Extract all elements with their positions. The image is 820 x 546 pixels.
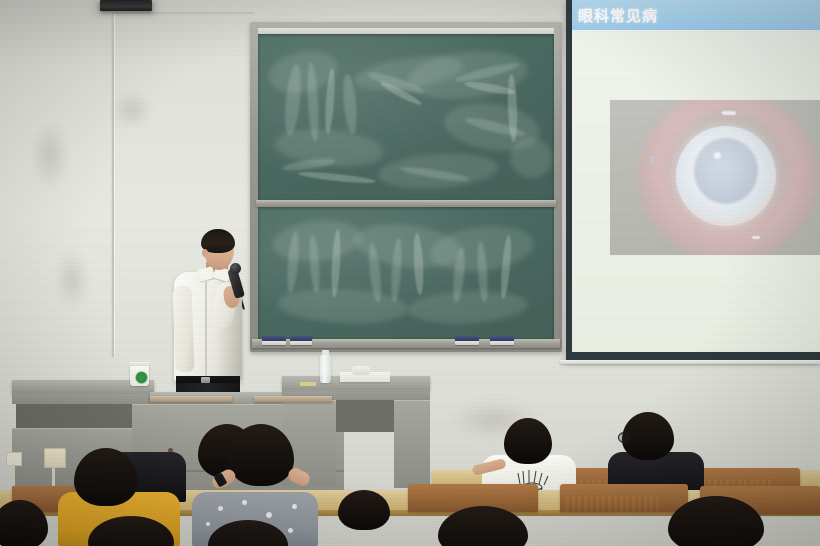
right-desk-recess [336, 400, 394, 432]
eye-photo-speck [650, 155, 654, 163]
student-white-tee-head [504, 418, 552, 464]
blackboard-eraser[interactable] [490, 336, 514, 345]
slide-title: 眼科常见病 [578, 5, 658, 26]
ceiling-speaker-unit [100, 0, 152, 11]
blackboard-eraser[interactable] [290, 336, 312, 345]
blackboard-upper-panel [258, 34, 554, 202]
projection-screen: 眼科常见病 [572, 0, 820, 352]
white-cup[interactable] [352, 366, 370, 375]
wall-stain [110, 90, 154, 130]
podium-trim [254, 396, 332, 402]
student-yellow-tee-head [74, 448, 138, 506]
speaker-arm-left [173, 286, 195, 373]
blackboard-divider-rail [256, 200, 556, 207]
wall-stain [30, 120, 70, 190]
wall-outlet-conduit [12, 464, 15, 486]
student-grey-polka-head [228, 424, 294, 486]
lecture-hall-photo: 眼科常见病 [0, 0, 820, 546]
left-desk-recess [16, 404, 138, 428]
eye-photo-speck [752, 236, 760, 239]
eye-specular-glint [714, 152, 721, 159]
student-right-ponytail-head [338, 490, 390, 530]
shirt-dot [218, 506, 223, 511]
slide-eye-photograph [610, 100, 820, 255]
shirt-dot [288, 528, 293, 533]
wall-stain [55, 250, 89, 310]
shirt-dot [206, 522, 210, 526]
microphone-head [230, 263, 241, 274]
podium-trim [150, 396, 232, 402]
bench-slats [566, 496, 682, 512]
blackboard-eraser[interactable] [455, 336, 479, 345]
shirt-dot [242, 500, 247, 505]
paper-cup-lid [129, 362, 150, 366]
projection-screen-bottom-bar [560, 360, 820, 364]
speaker-shirt-placket [205, 282, 207, 378]
student-glasses [618, 432, 631, 443]
blackboard-lower-panel [258, 207, 554, 339]
wall-conduit [224, 12, 254, 14]
blackboard-eraser[interactable] [262, 336, 286, 345]
water-bottle[interactable] [320, 355, 331, 383]
slide-title-banner: 眼科常见病 [572, 0, 820, 30]
wall-outlet[interactable] [44, 448, 66, 468]
desk-note [300, 382, 316, 386]
paper-cup-logo [135, 371, 148, 384]
shirt-dot [266, 512, 272, 518]
eye-photo-speck [722, 111, 736, 115]
shirt-dot [292, 504, 297, 509]
speaker-ear [202, 249, 208, 257]
right-desk-body [394, 400, 430, 488]
left-desk-edge [12, 394, 154, 404]
eye-pupil [694, 138, 758, 204]
wall-conduit [112, 12, 114, 357]
